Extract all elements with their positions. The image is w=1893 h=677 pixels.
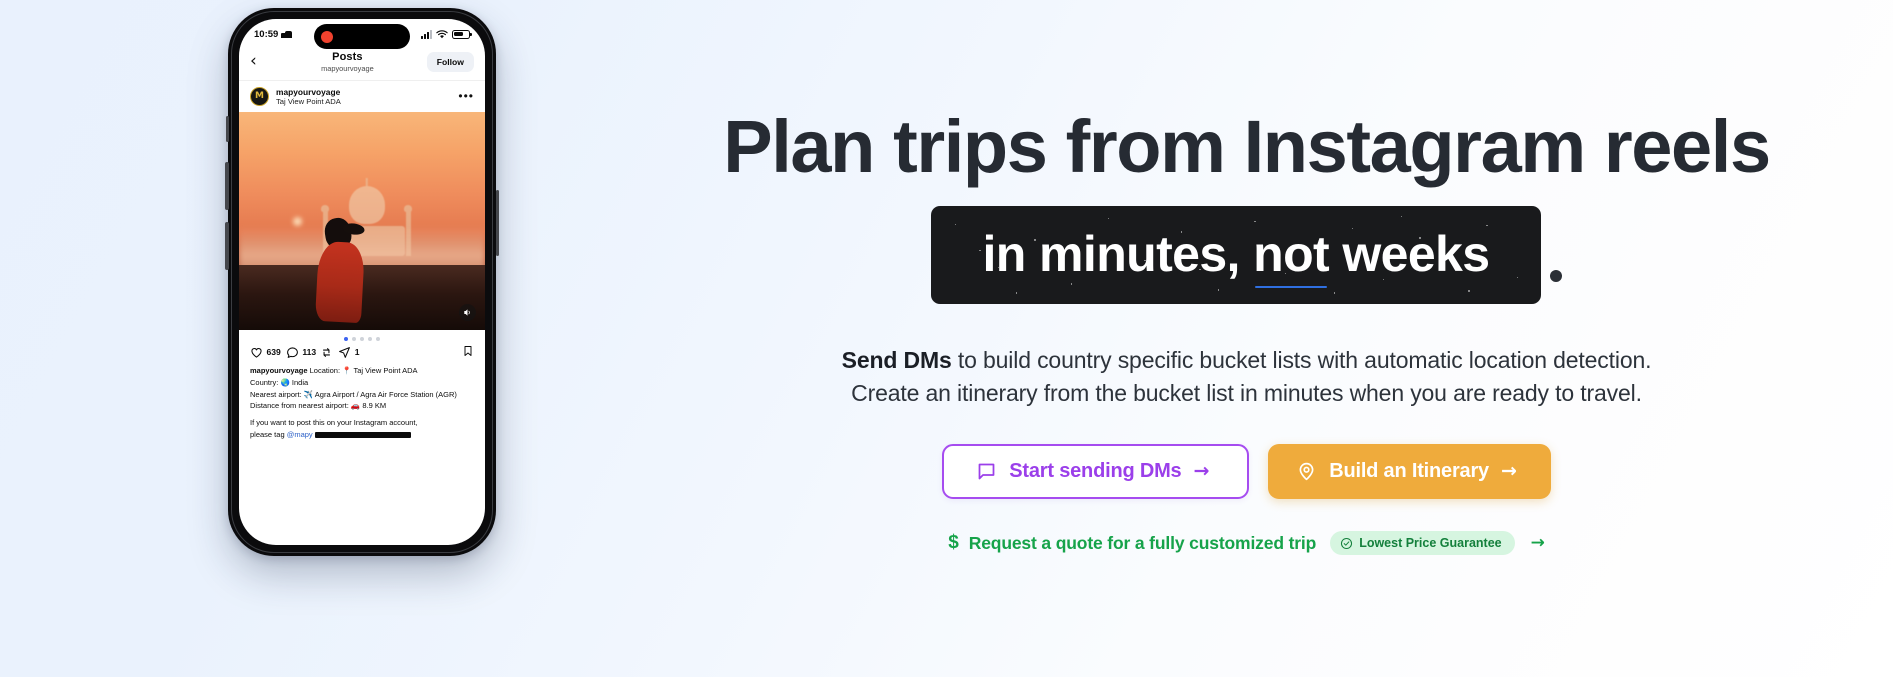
status-badge: Lowest Price Guarantee: [1330, 531, 1514, 555]
subtitle-line-2: Create an itinerary from the bucket list…: [842, 377, 1652, 410]
bookmark-icon[interactable]: [462, 345, 474, 359]
follow-button[interactable]: Follow: [427, 52, 474, 72]
app-header: ‹ Posts mapyourvoyage Follow: [239, 49, 485, 81]
cta-group: Start sending DMs → Build an Itinerary →: [942, 444, 1550, 499]
caption-location-label: Location:: [310, 366, 340, 375]
phone-volume-down-button: [225, 222, 229, 270]
caption-footer-line-2: please tag @mapy: [250, 429, 474, 441]
comment-icon: [286, 346, 299, 359]
app-subtitle: mapyourvoyage: [268, 64, 427, 73]
start-sending-dms-button[interactable]: Start sending DMs →: [942, 444, 1249, 499]
pin-emoji-icon: 📍: [342, 366, 351, 375]
like-action[interactable]: 639: [250, 346, 281, 359]
repost-icon: [320, 346, 333, 359]
repost-action[interactable]: [320, 346, 333, 359]
carousel-dot[interactable]: [352, 337, 356, 341]
woman-in-red-dress: [313, 218, 367, 322]
more-options-icon[interactable]: •••: [458, 93, 474, 100]
caption-username[interactable]: mapyourvoyage: [250, 366, 308, 375]
caption-airport-value: Agra Airport / Agra Air Force Station (A…: [315, 390, 457, 399]
caption-distance-line: Distance from nearest airport: 🚗 8.9 KM: [250, 400, 474, 412]
start-sending-dms-label: Start sending DMs: [1009, 460, 1181, 483]
post-media[interactable]: [239, 112, 485, 330]
post-caption: mapyourvoyage Location: 📍 Taj View Point…: [239, 365, 485, 440]
highlight-text: in minutes, not weeks: [983, 229, 1490, 279]
carousel-dot[interactable]: [344, 337, 348, 341]
carousel-dot[interactable]: [360, 337, 364, 341]
arrow-right-icon: →: [1193, 462, 1209, 481]
carousel-dot[interactable]: [368, 337, 372, 341]
globe-emoji-icon: 🌏: [280, 378, 289, 387]
highlight-underlined-word: not: [1253, 226, 1329, 282]
caption-mention[interactable]: @mapy: [287, 430, 313, 439]
check-circle-icon: [1340, 537, 1353, 550]
status-indicators: [421, 30, 470, 39]
phone-power-button: [496, 190, 500, 256]
post-location[interactable]: Taj View Point ADA: [276, 97, 451, 106]
status-bar: 10:59: [239, 19, 485, 49]
location-pin-icon: [1296, 461, 1317, 482]
heart-icon: [250, 346, 263, 359]
redacted-text: [315, 432, 411, 438]
dynamic-island: [314, 24, 410, 49]
share-count: 1: [355, 347, 360, 357]
caption-airport-line: Nearest airport: ✈️ Agra Airport / Agra …: [250, 389, 474, 401]
comment-action[interactable]: 113: [286, 346, 316, 359]
bed-icon: [281, 31, 292, 38]
battery-icon: [452, 30, 470, 39]
highlight-suffix: weeks: [1329, 226, 1489, 282]
post-author-row: M mapyourvoyage Taj View Point ADA •••: [239, 81, 485, 113]
status-badge-label: Lowest Price Guarantee: [1359, 536, 1501, 550]
caption-country-label: Country:: [250, 378, 278, 387]
share-icon: [338, 346, 351, 359]
request-quote-link[interactable]: $ Request a quote for a fully customized…: [948, 531, 1544, 555]
build-itinerary-label: Build an Itinerary: [1329, 460, 1489, 483]
caption-country-line: Country: 🌏 India: [250, 377, 474, 389]
post-actions: 639 113 1: [239, 343, 485, 365]
page-title: Plan trips from Instagram reels: [723, 110, 1769, 184]
highlight-prefix: in minutes,: [983, 226, 1254, 282]
hero-content: Plan trips from Instagram reels in minut…: [600, 0, 1893, 677]
wifi-icon: [436, 30, 448, 39]
app-title: Posts: [268, 51, 427, 63]
caption-distance-label: Distance from nearest airport:: [250, 401, 349, 410]
status-time-group: 10:59: [254, 29, 292, 40]
subtitle-line-1: Send DMs to build country specific bucke…: [842, 344, 1652, 377]
dollar-icon: $: [948, 532, 958, 554]
cellular-signal-icon: [421, 30, 432, 39]
chevron-left-icon[interactable]: ‹: [250, 53, 268, 70]
carousel-dot[interactable]: [376, 337, 380, 341]
arrow-right-icon: →: [1531, 533, 1545, 553]
share-action[interactable]: 1: [338, 346, 359, 359]
subtitle-rest: to build country specific bucket lists w…: [952, 347, 1652, 373]
arrow-right-icon: →: [1501, 462, 1517, 481]
caption-footer-line-1: If you want to post this on your Instagr…: [250, 417, 474, 429]
post-author-meta: mapyourvoyage Taj View Point ADA: [276, 87, 451, 107]
hero-section: 10:59 ‹: [0, 0, 1893, 677]
caption-country-value: India: [292, 378, 308, 387]
caption-location-line: mapyourvoyage Location: 📍 Taj View Point…: [250, 365, 474, 377]
car-emoji-icon: 🚗: [351, 401, 360, 410]
phone-mockup: 10:59 ‹: [228, 8, 496, 556]
post-username[interactable]: mapyourvoyage: [276, 87, 451, 98]
caption-location-value: Taj View Point ADA: [353, 366, 417, 375]
request-quote-label: Request a quote for a fully customized t…: [969, 533, 1316, 554]
message-icon: [976, 461, 997, 482]
build-itinerary-button[interactable]: Build an Itinerary →: [1268, 444, 1551, 499]
like-count: 639: [267, 347, 281, 357]
status-time: 10:59: [254, 29, 278, 40]
airplane-emoji-icon: ✈️: [304, 390, 313, 399]
phone-volume-up-button: [225, 162, 229, 210]
caption-airport-label: Nearest airport:: [250, 390, 302, 399]
highlight-box: in minutes, not weeks: [931, 206, 1542, 304]
caption-footer-prefix: please tag: [250, 430, 285, 439]
comment-count: 113: [302, 347, 316, 357]
page-subtitle: Send DMs to build country specific bucke…: [842, 344, 1652, 409]
caption-distance-value: 8.9 KM: [362, 401, 386, 410]
period-dot: [1550, 270, 1562, 282]
recording-dot-icon: [321, 31, 333, 43]
subtitle-bold: Send DMs: [842, 347, 952, 373]
avatar[interactable]: M: [250, 87, 269, 106]
highlight-row: in minutes, not weeks: [931, 206, 1563, 304]
carousel-indicator: [239, 330, 485, 343]
phone-screen: 10:59 ‹: [239, 19, 485, 545]
app-header-titles: Posts mapyourvoyage: [268, 51, 427, 73]
phone-silence-switch: [226, 116, 229, 142]
